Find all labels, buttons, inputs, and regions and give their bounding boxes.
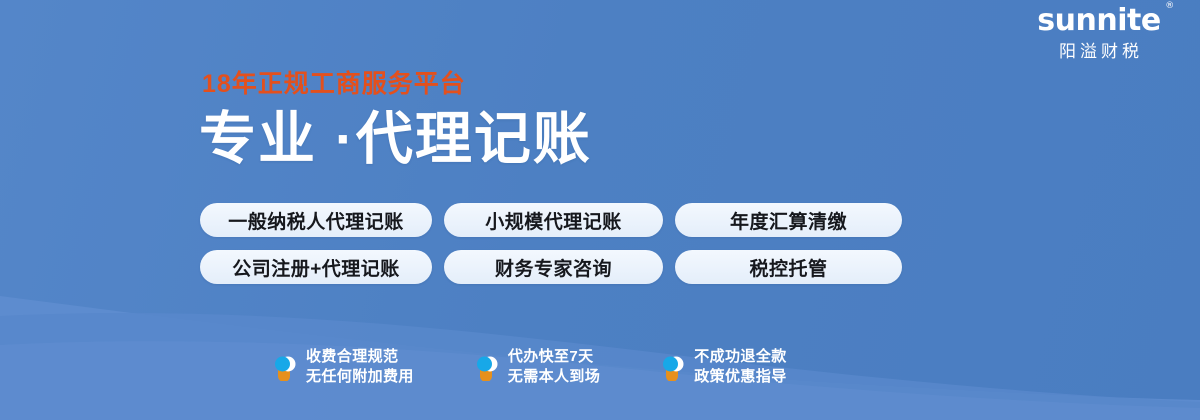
promo-banner: sunnite ® 阳溢财税 18年正规工商服务平台 专业 ·代理记账 一般纳税… <box>0 0 1200 420</box>
feature-line-1: 不成功退全款 <box>694 349 786 364</box>
service-pill[interactable]: 税控托管 <box>675 250 902 284</box>
service-pill[interactable]: 财务专家咨询 <box>444 250 663 284</box>
logo-wordmark: sunnite ® <box>1037 6 1160 36</box>
registered-trademark-icon: ® <box>1165 2 1174 11</box>
feature-line-2: 无任何附加费用 <box>306 369 414 384</box>
feature-list: 收费合理规范 无任何附加费用 代办快至7天 无需本人到场 <box>272 349 787 384</box>
service-pill[interactable]: 公司注册+代理记账 <box>200 250 432 284</box>
service-pill[interactable]: 小规模代理记账 <box>444 203 663 237</box>
feature-item: 收费合理规范 无任何附加费用 <box>272 349 414 384</box>
feature-text: 不成功退全款 政策优惠指导 <box>694 349 786 384</box>
circle-moon-icon <box>474 353 498 381</box>
logo-chinese-name: 阳溢财税 <box>1014 43 1184 60</box>
hero-headline: 专业 ·代理记账 <box>199 111 592 168</box>
service-pill[interactable]: 年度汇算清缴 <box>675 203 902 237</box>
feature-line-1: 收费合理规范 <box>306 349 414 364</box>
feature-text: 代办快至7天 无需本人到场 <box>508 349 600 384</box>
brand-logo: sunnite ® 阳溢财税 <box>1014 6 1184 60</box>
service-pill-grid: 一般纳税人代理记账 小规模代理记账 年度汇算清缴 公司注册+代理记账 财务专家咨… <box>200 203 902 284</box>
feature-item: 不成功退全款 政策优惠指导 <box>660 349 786 384</box>
service-pill[interactable]: 一般纳税人代理记账 <box>200 203 432 237</box>
circle-moon-icon <box>272 353 296 381</box>
feature-line-1: 代办快至7天 <box>508 349 600 364</box>
hero-text-block: 18年正规工商服务平台 专业 ·代理记账 <box>199 72 592 168</box>
feature-item: 代办快至7天 无需本人到场 <box>474 349 600 384</box>
feature-line-2: 政策优惠指导 <box>694 369 786 384</box>
feature-line-2: 无需本人到场 <box>508 369 600 384</box>
logo-wordmark-text: sunnite <box>1037 3 1160 38</box>
circle-moon-icon <box>660 353 684 381</box>
feature-text: 收费合理规范 无任何附加费用 <box>306 349 414 384</box>
hero-eyebrow: 18年正规工商服务平台 <box>202 72 592 97</box>
